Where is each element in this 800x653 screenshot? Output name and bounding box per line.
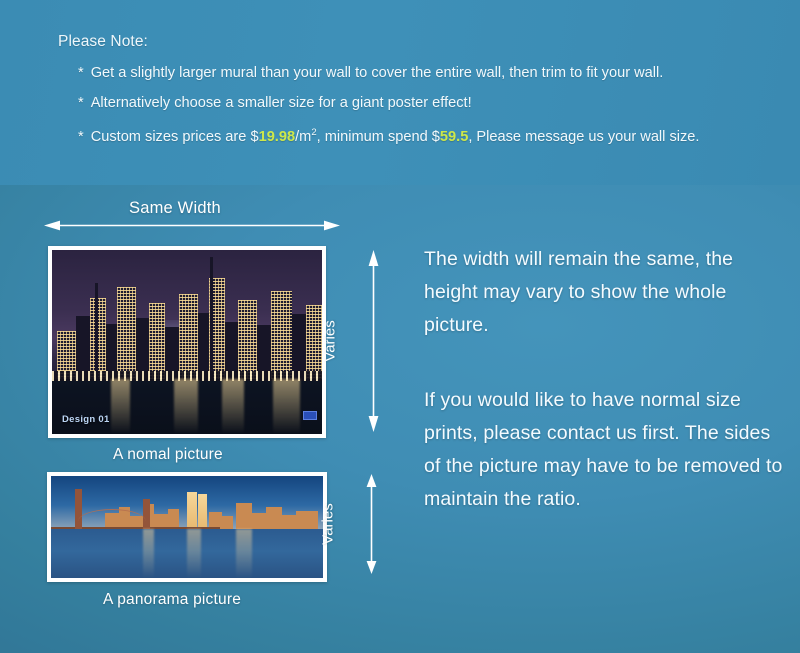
unit-price-value: 19.98 <box>259 129 296 145</box>
building <box>168 509 179 529</box>
note-item-1-text: Get a slightly larger mural than your wa… <box>91 65 664 81</box>
panorama-picture-caption: A panorama picture <box>103 591 241 609</box>
note-item-2-text: Alternatively choose a smaller size for … <box>91 95 472 111</box>
price-line-suffix: , Please message us your wall size. <box>468 129 699 145</box>
building <box>296 511 318 529</box>
normal-picture-caption: A nomal picture <box>113 446 223 464</box>
building <box>90 298 106 379</box>
building <box>292 314 306 378</box>
price-line-middle: /m <box>295 129 311 145</box>
building <box>306 305 322 379</box>
building <box>252 513 266 529</box>
please-note-banner: Please Note: *Get a slightly larger mura… <box>0 0 800 185</box>
building <box>198 313 209 379</box>
varies-double-arrow-icon <box>364 474 379 574</box>
varies-label: Varies <box>320 503 337 544</box>
bullet-marker: * <box>78 65 84 81</box>
same-width-double-arrow-icon <box>44 218 340 233</box>
building <box>225 322 239 379</box>
design-watermark: Design 01 <box>62 414 110 425</box>
night-skyline-artwork: Design 01 <box>52 250 322 434</box>
minimum-spend-value: 59.5 <box>440 129 468 145</box>
water-reflection <box>187 529 201 578</box>
twin-tower <box>187 492 197 529</box>
panorama-picture-image <box>51 476 323 578</box>
spire <box>210 257 213 378</box>
please-note-list: *Get a slightly larger mural than your w… <box>78 58 778 152</box>
building <box>238 300 257 379</box>
water-reflection <box>143 529 154 578</box>
please-note-title: Please Note: <box>58 33 148 51</box>
varies-label: Varies <box>322 320 339 361</box>
water-reflection <box>273 379 300 434</box>
same-width-label: Same Width <box>129 199 221 218</box>
copy-paragraph-2: If you would like to have normal size pr… <box>424 384 784 516</box>
water-reflection <box>222 379 244 434</box>
water-reflection <box>174 379 198 434</box>
building <box>179 294 198 379</box>
brooklyn-bridge-artwork <box>51 476 323 578</box>
normal-picture-frame: Design 01 <box>48 246 326 438</box>
note-item-1: *Get a slightly larger mural than your w… <box>78 58 778 88</box>
price-line-prefix: Custom sizes prices are $ <box>91 129 259 145</box>
bullet-marker: * <box>78 95 84 111</box>
building <box>76 316 90 379</box>
building <box>271 291 293 379</box>
note-item-2: *Alternatively choose a smaller size for… <box>78 88 778 118</box>
promo-graphic: Please Note: *Get a slightly larger mura… <box>0 0 800 653</box>
copy-paragraph-1: The width will remain the same, the heig… <box>424 243 784 342</box>
water-reflection <box>236 529 252 578</box>
varies-double-arrow-icon <box>366 250 381 432</box>
corner-logo-icon <box>303 411 317 420</box>
normal-picture-image: Design 01 <box>52 250 322 434</box>
twin-tower <box>198 494 208 529</box>
building <box>236 503 252 530</box>
spire <box>95 283 98 379</box>
building <box>222 516 233 529</box>
water-reflection <box>111 379 130 434</box>
building <box>136 318 150 379</box>
bridge-cable <box>78 509 146 530</box>
building <box>117 287 136 379</box>
building <box>149 303 165 378</box>
bullet-marker: * <box>78 129 84 145</box>
price-line-middle2: , minimum spend $ <box>317 129 440 145</box>
note-item-3-pricing: *Custom sizes prices are $19.98/m2, mini… <box>78 118 778 152</box>
panorama-picture-frame <box>47 472 327 582</box>
building <box>282 515 296 529</box>
building <box>266 507 282 529</box>
